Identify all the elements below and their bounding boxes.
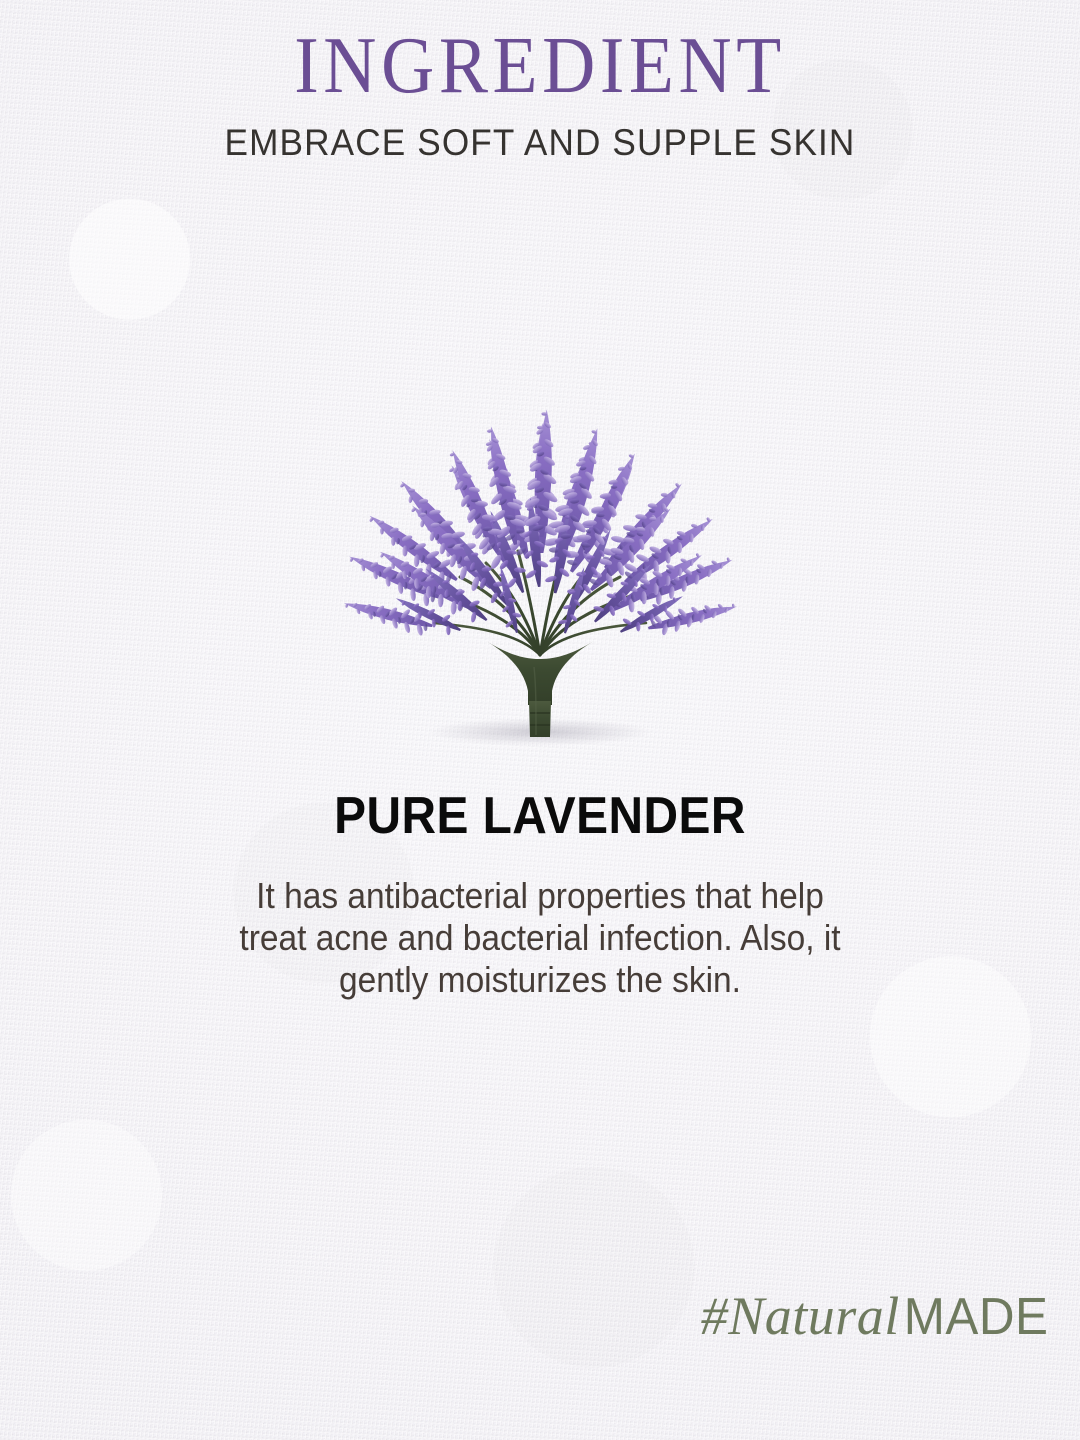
hero-image bbox=[0, 355, 1080, 765]
product-description: It has antibacterial properties that hel… bbox=[160, 875, 920, 1001]
description-line-1: It has antibacterial properties that hel… bbox=[187, 875, 894, 917]
poster-canvas: INGREDIENT EMBRACE SOFT AND SUPPLE SKIN bbox=[0, 0, 1080, 1440]
description-line-2: treat acne and bacterial infection. Also… bbox=[187, 917, 894, 959]
header: INGREDIENT EMBRACE SOFT AND SUPPLE SKIN bbox=[0, 0, 1080, 161]
lavender-bouquet-illustration bbox=[310, 355, 770, 765]
description-line-3: gently moisturizes the skin. bbox=[187, 959, 894, 1001]
page-kicker: INGREDIENT bbox=[43, 0, 1037, 106]
hashtag-script-part: #Natural bbox=[701, 1286, 900, 1346]
product-title: PURE LAVENDER bbox=[43, 790, 1037, 842]
page-subtitle: EMBRACE SOFT AND SUPPLE SKIN bbox=[27, 124, 1053, 161]
hashtag-caps-part: MADE bbox=[904, 1287, 1049, 1347]
brand-hashtag: #NaturalMADE bbox=[701, 1285, 1052, 1347]
